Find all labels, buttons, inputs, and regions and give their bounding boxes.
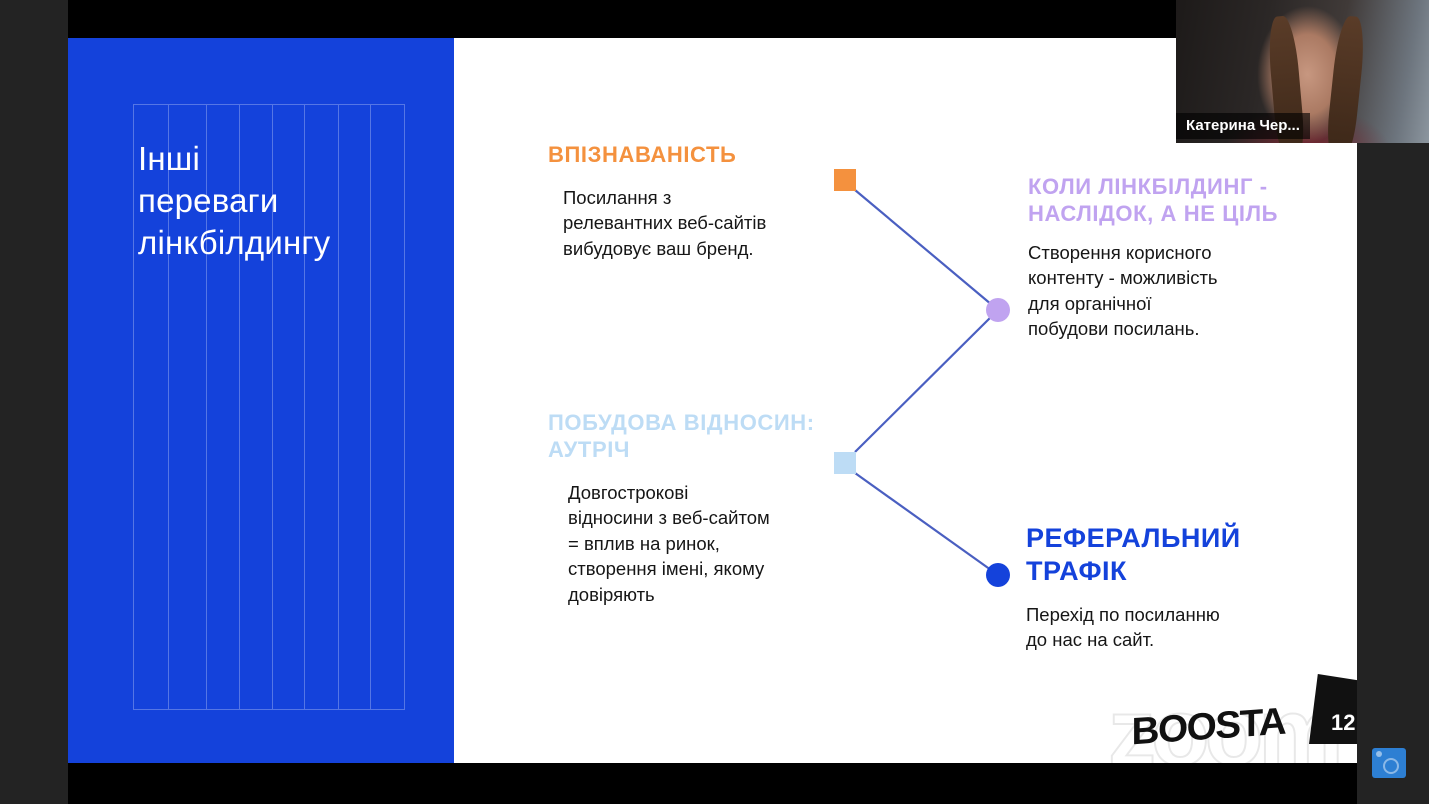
camera-indicator-dot bbox=[1376, 751, 1382, 757]
slide-title-panel: Інші переваги лінкбілдингу bbox=[68, 38, 454, 763]
slide-content-area: ВПІЗНАВАНІСТЬ Посилання з релевантних ве… bbox=[454, 38, 1357, 763]
block-consequence-body: Створення корисного контенту - можливіст… bbox=[1028, 240, 1308, 342]
zoom-screen-share-window: Інші переваги лінкбілдингу ВПІЗНАВАНІСТЬ… bbox=[0, 0, 1429, 804]
block-consequence: КОЛИ ЛІНКБІЛДИНГ - НАСЛІДОК, А НЕ ЦІЛЬ С… bbox=[1028, 174, 1308, 342]
brand-footer: BOOSTA 12 bbox=[1133, 664, 1333, 744]
camera-icon[interactable] bbox=[1372, 748, 1406, 778]
block-referral-body: Перехід по посиланню до нас на сайт. bbox=[1026, 602, 1326, 653]
block-outreach-body: Довгострокові відносини з веб-сайтом = в… bbox=[568, 480, 848, 608]
camera-lens-icon bbox=[1383, 758, 1399, 774]
block-recognition-heading: ВПІЗНАВАНІСТЬ bbox=[548, 142, 848, 169]
block-outreach-heading: ПОБУДОВА ВІДНОСИН: АУТРІЧ bbox=[548, 410, 848, 464]
block-recognition: ВПІЗНАВАНІСТЬ Посилання з релевантних ве… bbox=[548, 142, 848, 261]
page-number: 12 bbox=[1331, 710, 1355, 736]
block-referral: РЕФЕРАЛЬНИЙ ТРАФІК Перехід по посиланню … bbox=[1026, 522, 1326, 653]
block-outreach: ПОБУДОВА ВІДНОСИН: АУТРІЧ Довгострокові … bbox=[548, 410, 848, 607]
block-consequence-heading: КОЛИ ЛІНКБІЛДИНГ - НАСЛІДОК, А НЕ ЦІЛЬ bbox=[1028, 174, 1308, 228]
block-recognition-body: Посилання з релевантних веб-сайтів вибуд… bbox=[563, 185, 848, 262]
participant-video-thumbnail[interactable]: Катерина Чер... bbox=[1176, 0, 1429, 143]
page-title: Інші переваги лінкбілдингу bbox=[138, 138, 428, 265]
presentation-slide: Інші переваги лінкбілдингу ВПІЗНАВАНІСТЬ… bbox=[68, 38, 1357, 763]
participant-name-label: Катерина Чер... bbox=[1176, 113, 1310, 139]
block-referral-heading: РЕФЕРАЛЬНИЙ ТРАФІК bbox=[1026, 522, 1326, 588]
